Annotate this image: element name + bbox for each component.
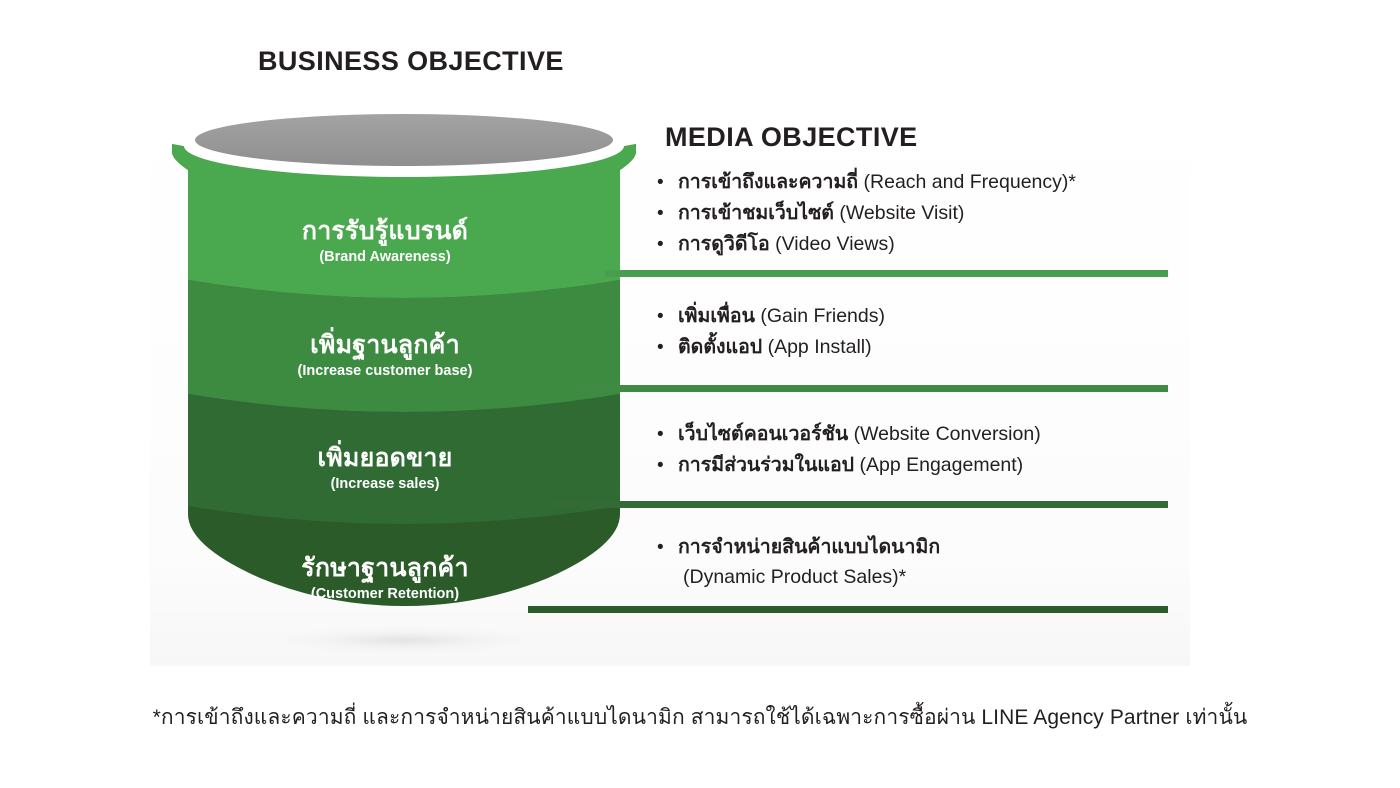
list-item: • การมีส่วนร่วมในแอป (App Engagement) [652,451,1212,480]
list-item-text: การจำหน่ายสินค้าแบบไดนามิก [678,533,940,562]
list-item-text: การเข้าถึงและความถี่ (Reach and Frequenc… [678,168,1076,197]
media-objective-group-sales: • เว็บไซต์คอนเวอร์ชัน (Website Conversio… [652,420,1212,482]
list-item: • เว็บไซต์คอนเวอร์ชัน (Website Conversio… [652,420,1212,449]
list-item: • การดูวิดีโอ (Video Views) [652,230,1212,259]
list-item-second-line: (Dynamic Product Sales)* [652,564,1212,591]
list-item-text: ติดตั้งแอป (App Install) [678,333,872,362]
list-item: • ติดตั้งแอป (App Install) [652,333,1212,362]
media-objective-group-customer-base: • เพิ่มเพื่อน (Gain Friends) • ติดตั้งแอ… [652,302,1212,364]
list-item: • เพิ่มเพื่อน (Gain Friends) [652,302,1212,331]
list-item: • การจำหน่ายสินค้าแบบไดนามิก [652,533,1212,562]
divider-line-customer-base [578,385,1168,392]
list-item-th: การมีส่วนร่วมในแอป [678,454,854,476]
list-item-en: (App Install) [762,336,871,358]
media-objective-group-retention: • การจำหน่ายสินค้าแบบไดนามิก (Dynamic Pr… [652,533,1212,591]
list-item-en: (Website Conversion) [848,423,1041,445]
bullet-icon: • [652,302,678,331]
bullet-icon: • [652,420,678,449]
list-item-th: เพิ่มเพื่อน [678,305,755,327]
bullet-icon: • [652,533,678,562]
list-item: • การเข้าถึงและความถี่ (Reach and Freque… [652,168,1212,197]
divider-line-sales [552,501,1168,508]
bullet-icon: • [652,199,678,228]
list-item-th: การเข้าชมเว็บไซต์ [678,202,834,224]
list-item-text: การเข้าชมเว็บไซต์ (Website Visit) [678,199,964,228]
footnote-text: *การเข้าถึงและความถี่ และการจำหน่ายสินค้… [0,701,1400,734]
funnel-shadow [244,624,564,656]
funnel-inner-surface [195,114,613,166]
media-objective-group-awareness: • การเข้าถึงและความถี่ (Reach and Freque… [652,168,1212,261]
list-item-text: การมีส่วนร่วมในแอป (App Engagement) [678,451,1023,480]
divider-line-retention [528,606,1168,613]
list-item: • การเข้าชมเว็บไซต์ (Website Visit) [652,199,1212,228]
bullet-icon: • [652,168,678,197]
list-item-text: เพิ่มเพื่อน (Gain Friends) [678,302,885,331]
list-item-en: (Video Views) [770,233,895,255]
list-item-text: เว็บไซต์คอนเวอร์ชัน (Website Conversion) [678,420,1041,449]
funnel-stage-2 [188,280,620,412]
bullet-icon: • [652,230,678,259]
list-item-text: การดูวิดีโอ (Video Views) [678,230,895,259]
list-item-th: การเข้าถึงและความถี่ [678,171,858,193]
list-item-th: เว็บไซต์คอนเวอร์ชัน [678,423,848,445]
slide-canvas: BUSINESS OBJECTIVE MEDIA OBJECTIVE [0,0,1400,788]
business-objective-title: BUSINESS OBJECTIVE [258,46,564,77]
list-item-th: ติดตั้งแอป [678,336,762,358]
list-item-th: การจำหน่ายสินค้าแบบไดนามิก [678,536,940,558]
list-item-en: (Website Visit) [834,202,964,224]
list-item-en: (App Engagement) [854,454,1023,476]
bullet-icon: • [652,333,678,362]
list-item-en: (Gain Friends) [755,305,885,327]
list-item-th: การดูวิดีโอ [678,233,770,255]
media-objective-title: MEDIA OBJECTIVE [665,122,918,153]
bullet-icon: • [652,451,678,480]
list-item-en: (Reach and Frequency)* [858,171,1076,193]
divider-line-awareness [605,270,1168,277]
funnel-diagram [150,100,670,666]
